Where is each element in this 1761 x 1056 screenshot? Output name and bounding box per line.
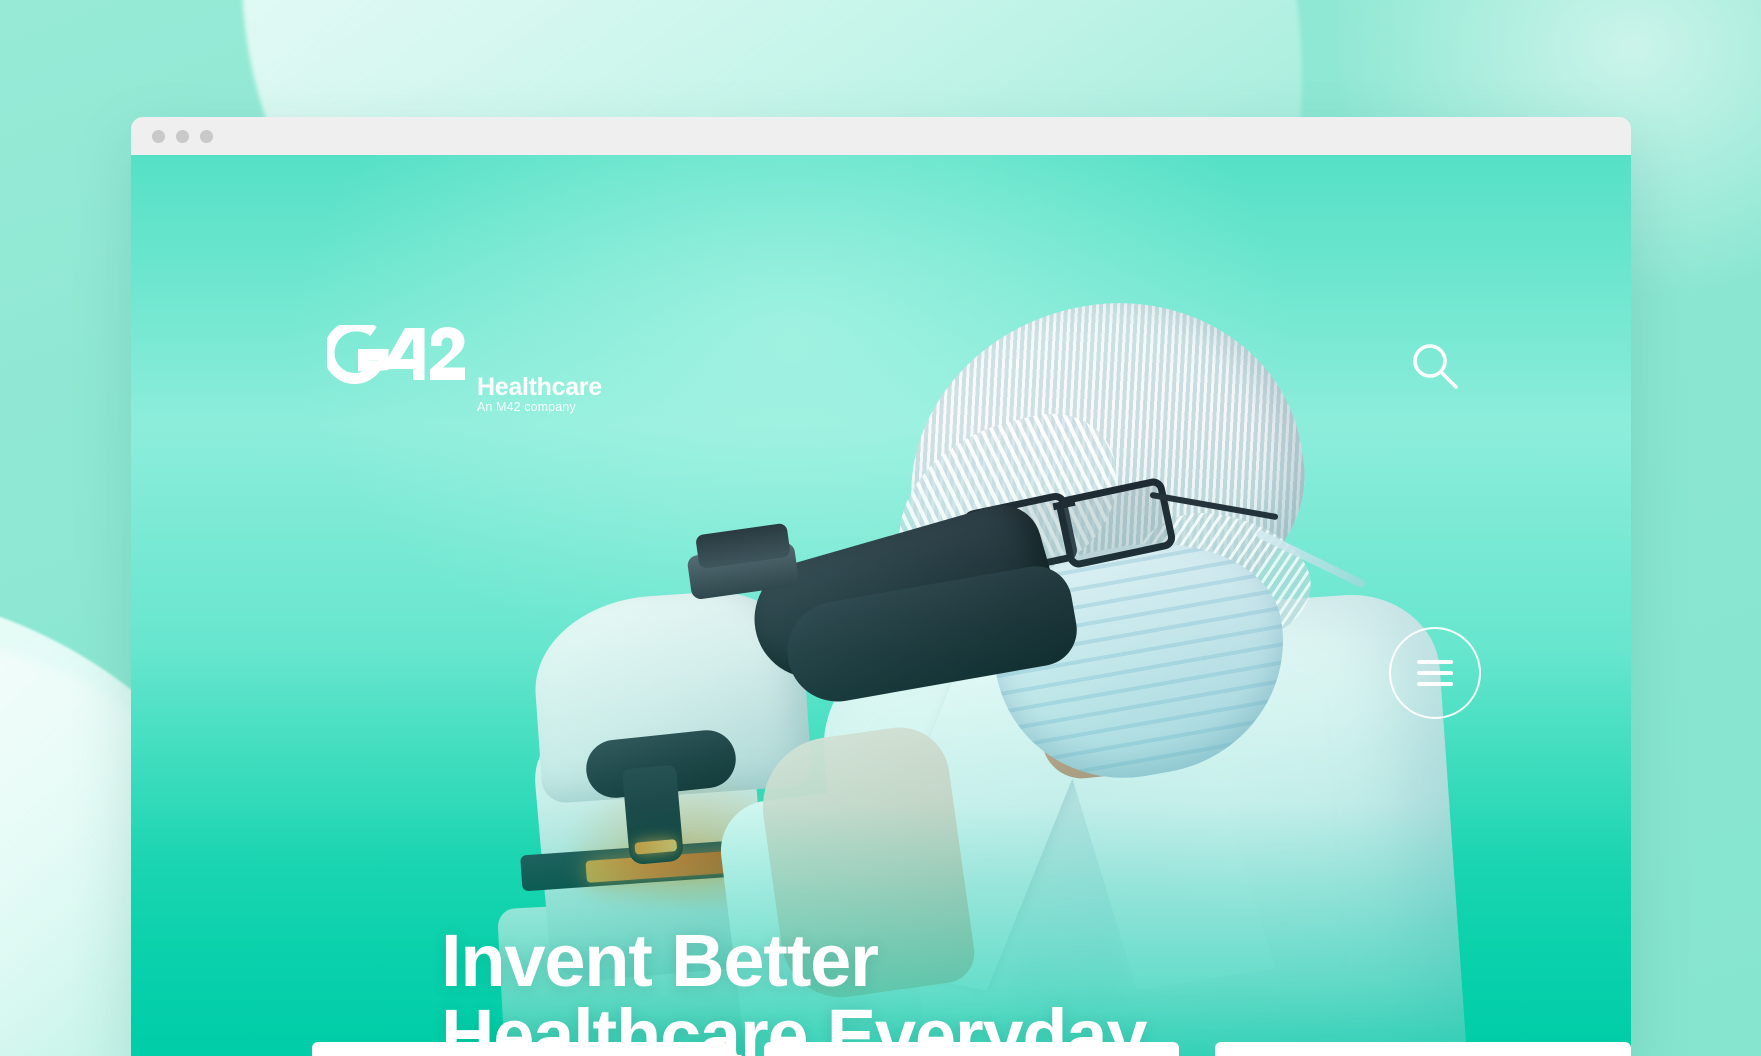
page-backdrop: Healthcare An M42 company Invent Better … — [0, 0, 1761, 1056]
news-card[interactable] — [1215, 1042, 1631, 1056]
traffic-light-maximize-icon[interactable] — [200, 130, 213, 143]
photo-scene — [131, 155, 1631, 1056]
hamburger-menu-button[interactable] — [1389, 627, 1481, 719]
search-button[interactable] — [1407, 339, 1463, 395]
hamburger-menu-icon-bar-3 — [1417, 682, 1453, 686]
logo-tagline: An M42 company — [477, 401, 576, 414]
microscope-objective-lens — [622, 765, 684, 865]
news-card-list — [312, 1042, 1631, 1056]
hero-title-line-1: Invent Better — [441, 923, 1146, 998]
traffic-light-close-icon[interactable] — [152, 130, 165, 143]
traffic-light-minimize-icon[interactable] — [176, 130, 189, 143]
news-card[interactable] — [764, 1042, 1180, 1056]
site-logo[interactable]: Healthcare An M42 company — [327, 325, 597, 417]
browser-window: Healthcare An M42 company Invent Better … — [131, 117, 1631, 1056]
news-card[interactable] — [312, 1042, 728, 1056]
browser-title-bar — [131, 117, 1631, 155]
hero-section: Healthcare An M42 company Invent Better … — [131, 155, 1631, 1056]
logo-division-label: Healthcare — [477, 375, 602, 400]
search-icon — [1407, 339, 1463, 395]
hamburger-menu-icon-bar-1 — [1417, 660, 1453, 664]
hamburger-menu-icon-bar-2 — [1417, 671, 1453, 675]
hero-headline: Invent Better Healthcare Everyday — [441, 923, 1146, 1056]
hero-photo-scientist-at-microscope — [131, 155, 1631, 1056]
